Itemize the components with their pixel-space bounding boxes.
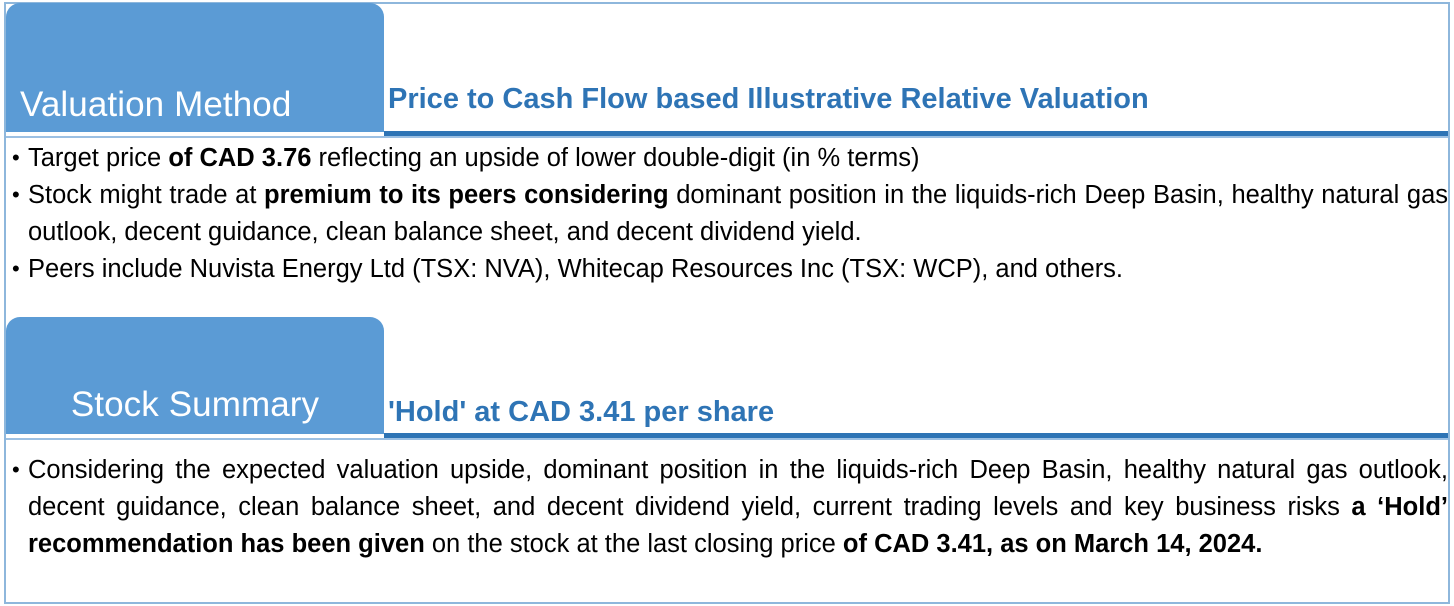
section-tab-label: Valuation Method (20, 85, 291, 125)
section-rule-1 (6, 136, 1448, 138)
section-heading-stock-summary: 'Hold' at CAD 3.41 per share (388, 396, 774, 429)
section-tab-stock-summary: Stock Summary (6, 317, 384, 434)
list-item-peers-list: Peers include Nuvista Energy Ltd (TSX: N… (10, 251, 1448, 288)
emphasis-text: of CAD 3.76 (168, 144, 311, 172)
plain-text: Stock might trade at (28, 181, 264, 209)
emphasis-text: premium to its peers considering (264, 181, 669, 209)
plain-text: on the stock at the last closing price (425, 530, 843, 558)
bullet-list-summary: Considering the expected valuation upsid… (10, 452, 1448, 563)
list-item-premium-to-peers: Stock might trade at premium to its peer… (10, 177, 1448, 251)
plain-text: Considering the expected valuation upsid… (28, 456, 1448, 521)
bullet-list-valuation: Target price of CAD 3.76 reflecting an u… (10, 140, 1448, 288)
section-heading-valuation-method: Price to Cash Flow based Illustrative Re… (388, 83, 1149, 116)
plain-text: Peers include Nuvista Energy Ltd (TSX: N… (28, 255, 1123, 283)
list-item-target-price: Target price of CAD 3.76 reflecting an u… (10, 140, 1448, 177)
emphasis-text: of CAD 3.41, as on March 14, 2024. (843, 530, 1263, 558)
section-body-stock-summary: Considering the expected valuation upsid… (10, 452, 1448, 563)
section-body-valuation-method: Target price of CAD 3.76 reflecting an u… (10, 140, 1448, 288)
plain-text: Target price (28, 144, 168, 172)
section-rule-2 (6, 438, 1448, 440)
list-item-hold-recommendation: Considering the expected valuation upsid… (10, 452, 1448, 563)
plain-text: reflecting an upside of lower double-dig… (311, 144, 919, 172)
valuation-summary-card: Valuation Method Price to Cash Flow base… (0, 0, 1454, 606)
section-tab-label: Stock Summary (71, 385, 319, 425)
section-tab-valuation-method: Valuation Method (6, 3, 384, 132)
